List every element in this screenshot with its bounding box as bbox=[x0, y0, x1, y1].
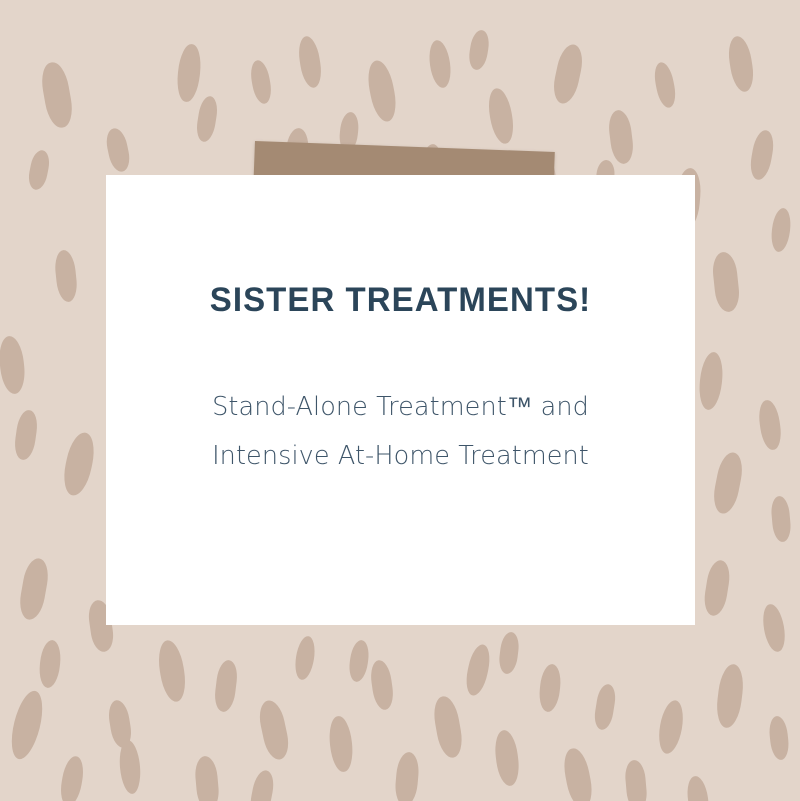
pattern-blob bbox=[394, 751, 421, 801]
pattern-blob bbox=[58, 755, 86, 801]
pattern-blob bbox=[213, 659, 239, 713]
pattern-blob bbox=[769, 207, 792, 253]
pattern-blob bbox=[710, 450, 745, 515]
pattern-blob bbox=[770, 495, 792, 542]
pattern-blob bbox=[493, 729, 522, 787]
pattern-blob bbox=[560, 746, 595, 801]
pattern-blob bbox=[118, 739, 143, 795]
pattern-blob bbox=[364, 58, 399, 123]
pattern-blob bbox=[369, 659, 396, 711]
pattern-blob bbox=[17, 556, 51, 621]
pattern-blob bbox=[498, 631, 521, 675]
pattern-blob bbox=[697, 351, 725, 411]
pattern-blob bbox=[702, 559, 732, 618]
pattern-blob bbox=[38, 639, 63, 689]
pattern-blob bbox=[714, 663, 746, 729]
pattern-blob bbox=[431, 694, 465, 759]
pattern-blob bbox=[768, 715, 791, 761]
pattern-blob bbox=[685, 775, 711, 801]
pattern-blob bbox=[0, 335, 27, 395]
pattern-blob bbox=[155, 639, 188, 704]
pattern-blob bbox=[593, 683, 618, 731]
pattern-blob bbox=[256, 698, 292, 762]
pattern-blob bbox=[293, 635, 318, 681]
pattern-blob bbox=[53, 249, 78, 303]
page-title: SISTER TREATMENTS! bbox=[115, 283, 686, 317]
pattern-blob bbox=[195, 95, 220, 143]
pattern-blob bbox=[652, 61, 678, 110]
pattern-blob bbox=[248, 59, 273, 105]
pattern-blob bbox=[760, 603, 788, 654]
pattern-blob bbox=[104, 126, 133, 173]
subtitle-line-2: Intensive At-Home Treatment bbox=[106, 432, 695, 481]
pattern-blob bbox=[467, 29, 491, 71]
pattern-blob bbox=[726, 35, 756, 94]
pattern-blob bbox=[38, 60, 75, 130]
pattern-blob bbox=[655, 699, 686, 756]
pattern-blob bbox=[427, 39, 453, 89]
pattern-blob bbox=[711, 251, 741, 313]
pattern-blob bbox=[748, 129, 776, 182]
pattern-blob bbox=[538, 663, 563, 713]
pattern-blob bbox=[6, 688, 48, 762]
pattern-blob bbox=[175, 43, 203, 103]
content-card: SISTER TREATMENTS! Stand-Alone Treatment… bbox=[106, 175, 695, 625]
pattern-blob bbox=[327, 715, 355, 773]
pattern-blob bbox=[60, 430, 99, 498]
pattern-blob bbox=[624, 759, 648, 801]
pattern-blob bbox=[485, 87, 516, 146]
pattern-blob bbox=[296, 35, 324, 89]
pattern-blob bbox=[347, 639, 371, 683]
pattern-blob bbox=[550, 42, 586, 106]
pattern-blob bbox=[757, 399, 784, 451]
subtitle-line-1: Stand-Alone Treatment™ and bbox=[106, 383, 695, 432]
card-subtitle: Stand-Alone Treatment™ and Intensive At-… bbox=[106, 383, 695, 481]
pattern-blob bbox=[26, 149, 51, 192]
pattern-blob bbox=[194, 755, 221, 801]
pattern-blob bbox=[607, 109, 635, 165]
pattern-blob bbox=[248, 769, 277, 801]
pattern-blob bbox=[13, 409, 40, 461]
graphic-canvas: SISTER TREATMENTS! Stand-Alone Treatment… bbox=[0, 0, 800, 801]
pattern-blob bbox=[463, 642, 493, 697]
pattern-blob bbox=[106, 699, 133, 750]
